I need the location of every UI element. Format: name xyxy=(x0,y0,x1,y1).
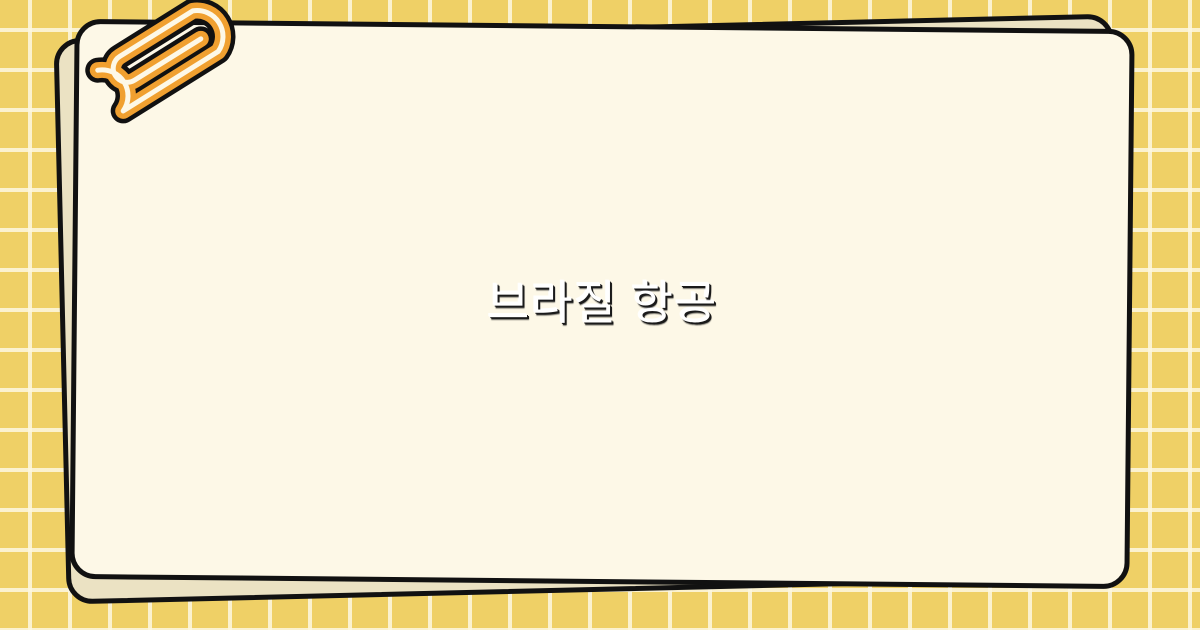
card-title: 브라질 항공 xyxy=(487,276,717,331)
poster-canvas: 브라질 항공 xyxy=(0,0,1200,630)
note-card: 브라질 항공 xyxy=(69,19,1134,589)
note-card-stack: 브라질 항공 xyxy=(0,0,1200,630)
